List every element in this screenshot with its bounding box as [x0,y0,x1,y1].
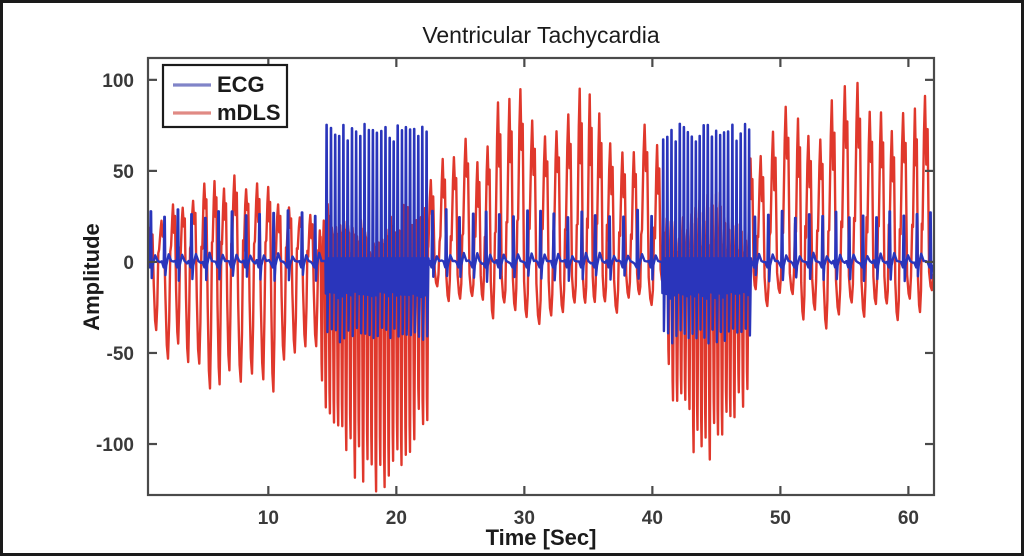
figure-panel: Ventricular Tachycardia -100-50050100 10… [0,0,1024,556]
y-tick-label: 50 [113,162,134,183]
y-tick-label: 100 [102,71,134,92]
series-trace-mdls [148,83,933,492]
y-tick-label: 0 [123,253,134,274]
x-tick-label: 20 [386,508,407,529]
y-axis-label: Amplitude [79,223,104,331]
y-tick-label: -50 [107,344,134,365]
x-tick-label: 40 [642,508,663,529]
ventricular-tachycardia-chart: Ventricular Tachycardia -100-50050100 10… [3,3,1024,559]
chart-title: Ventricular Tachycardia [422,22,660,48]
y-tick-label: -100 [96,435,134,456]
x-tick-label: 10 [258,508,279,529]
chart-legend[interactable]: ECG mDLS [163,65,287,127]
x-tick-label: 60 [898,508,919,529]
series-traces [148,83,933,492]
chart-plot-area: Ventricular Tachycardia -100-50050100 10… [3,3,1024,559]
legend-label-ecg: ECG [217,72,265,97]
x-axis-label: Time [Sec] [486,525,597,550]
legend-label-mdls: mDLS [217,100,281,125]
x-tick-label: 50 [770,508,791,529]
